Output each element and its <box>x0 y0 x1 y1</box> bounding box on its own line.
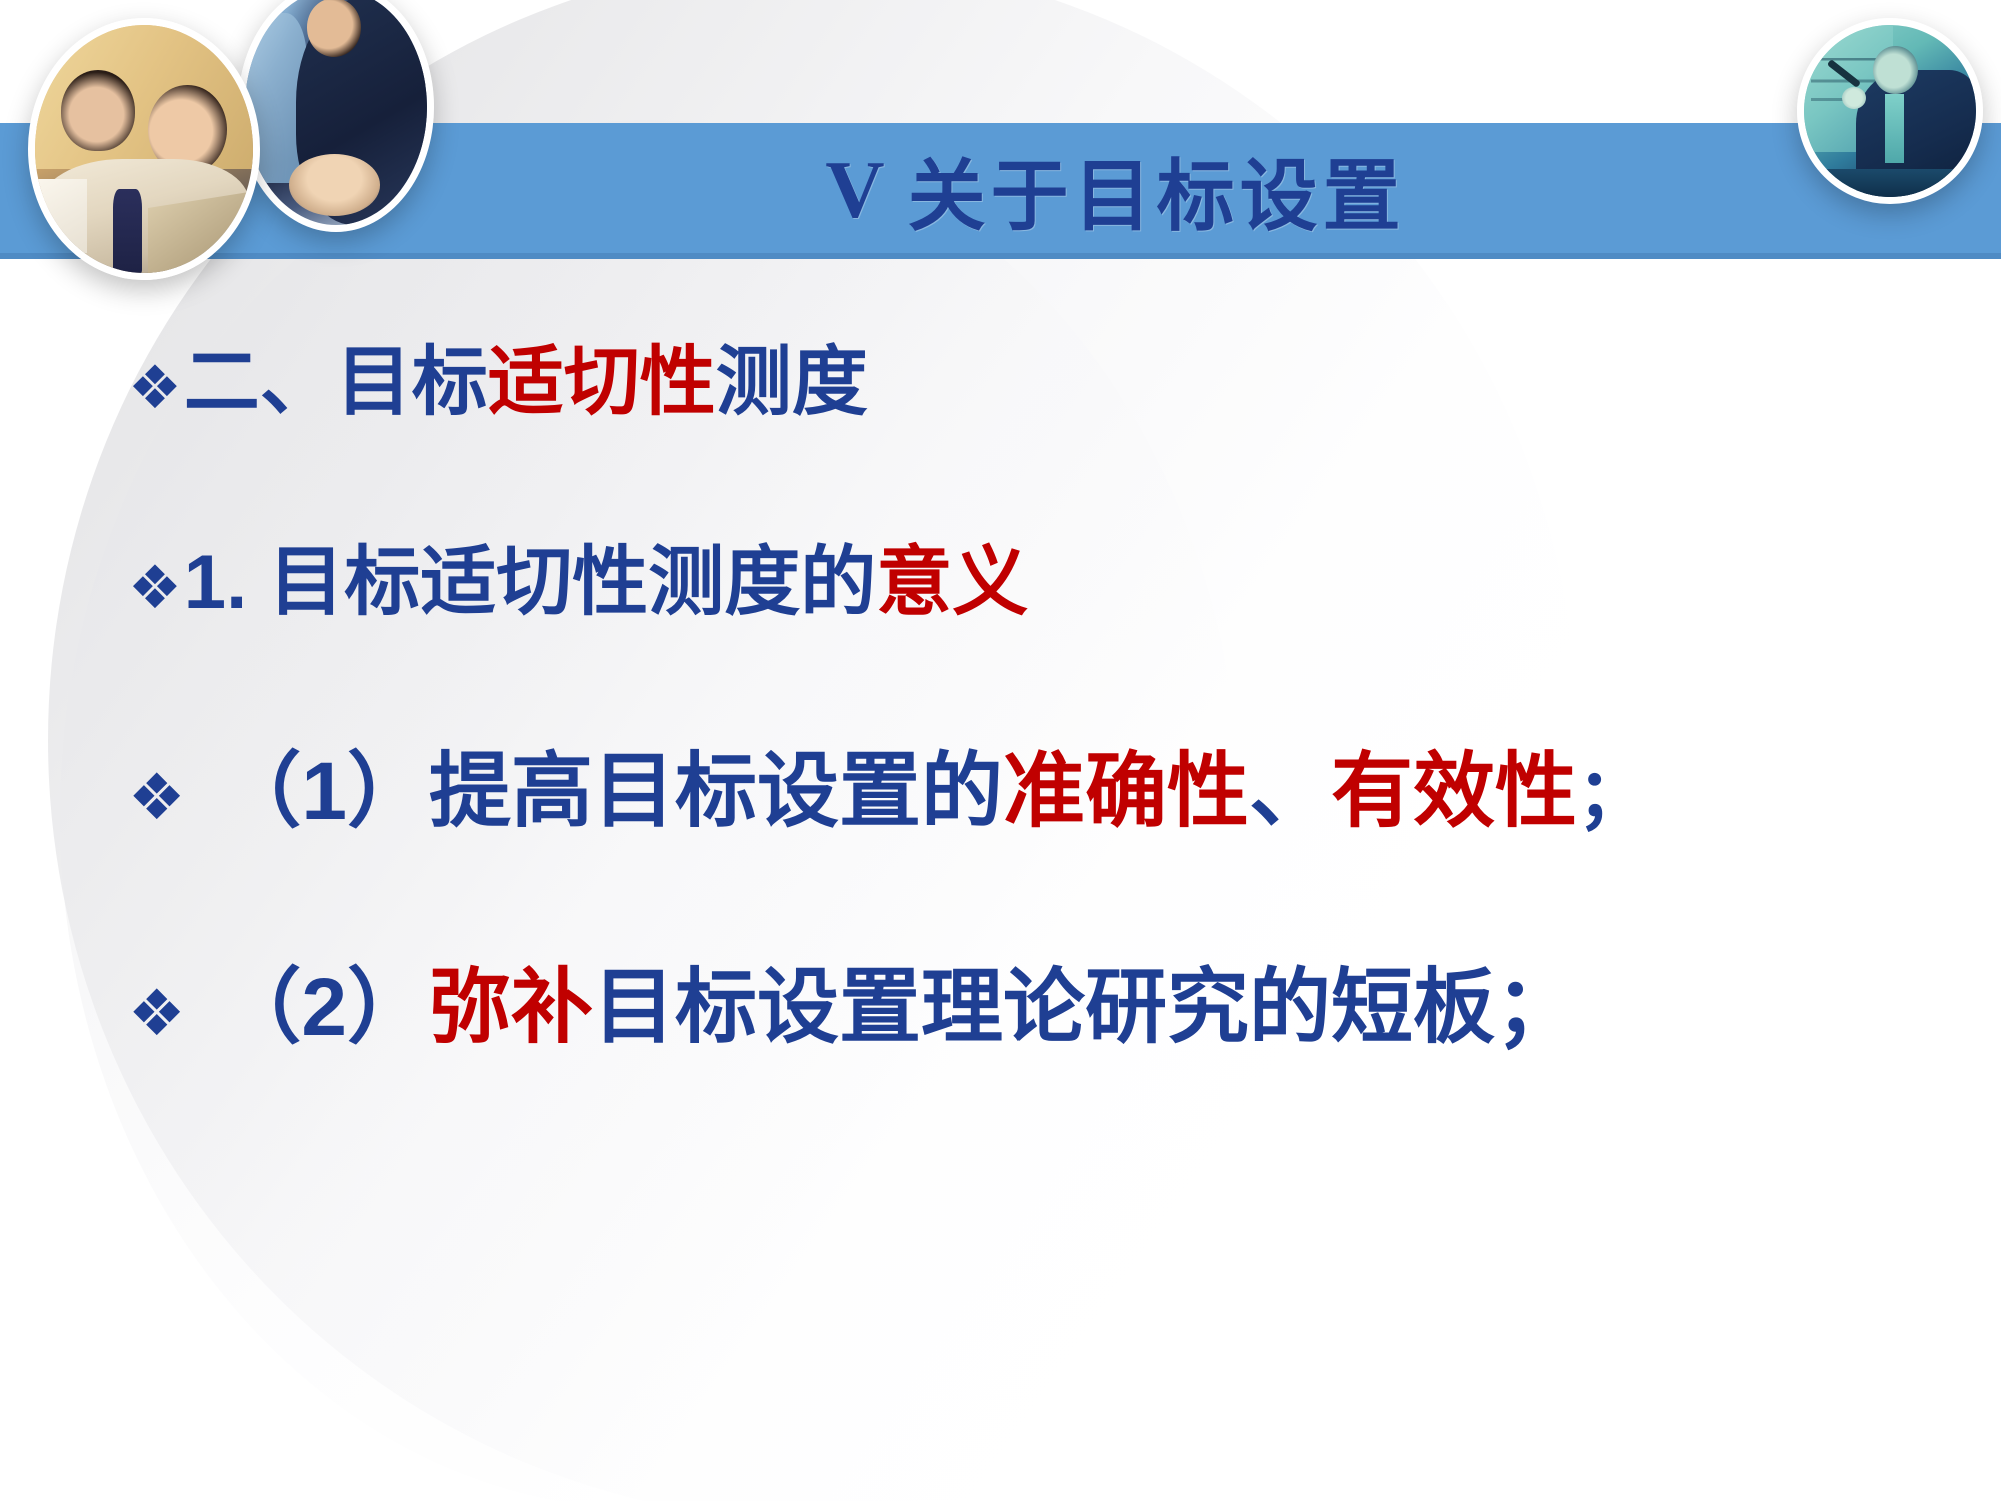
bullet-segment: 1. 目标适切性测度的 <box>184 540 877 625</box>
bullet-segment-emphasis: 适切性 <box>488 340 716 425</box>
slide-body: ❖ 二、目标适切性测度 ❖ 1. 目标适切性测度的意义 ❖ （1）提高目标设置的… <box>0 258 2001 1501</box>
team-at-laptop-photo <box>28 18 260 280</box>
bullet-segment-emphasis: 准确性 <box>1003 746 1249 837</box>
slide-canvas: V 关于目标设置 ❖ 二、目标适切性测度 <box>0 0 2001 1501</box>
bullet-text: （1）提高目标设置的准确性、有效性； <box>219 724 1647 843</box>
handshake-photo-hands <box>289 154 380 215</box>
bullet-segment: ； <box>1577 755 1648 834</box>
diamond-bullet-icon: ❖ <box>128 358 182 418</box>
executive-board-photo <box>1797 18 1983 204</box>
bullet-row: ❖ （1）提高目标设置的准确性、有效性； <box>0 724 2001 843</box>
bullet-segment-emphasis: 意义 <box>876 540 1028 625</box>
bullet-row: ❖ （2）弥补目标设置理论研究的短板； <box>0 940 2001 1059</box>
diamond-bullet-icon: ❖ <box>128 766 185 830</box>
bullet-segment: （1）提高目标设置的 <box>219 746 1003 837</box>
title-text: 关于目标设置 <box>908 134 1406 246</box>
bullet-text: （2）弥补目标设置理论研究的短板； <box>219 940 1577 1059</box>
diamond-bullet-icon: ❖ <box>128 558 182 618</box>
bullet-text: 二、目标适切性测度 <box>184 320 868 430</box>
bullet-segment: 、 <box>1249 746 1331 837</box>
title-numeral: V <box>825 143 889 237</box>
exec-photo-tie <box>1885 94 1904 163</box>
bullet-segment: 测度 <box>716 340 868 425</box>
team-photo-head-left <box>61 70 135 152</box>
bullet-text: 1. 目标适切性测度的意义 <box>184 520 1029 630</box>
bullet-segment-emphasis: 弥补 <box>429 962 593 1053</box>
exec-photo-desk <box>1804 169 1976 200</box>
exec-photo-head <box>1873 46 1918 94</box>
team-photo-paper <box>31 179 88 253</box>
bullet-segment-emphasis: 有效性 <box>1331 746 1577 837</box>
bullet-segment: （2） <box>219 962 429 1053</box>
handshake-photo <box>238 0 434 232</box>
bullet-segment: 目标设置理论研究的短板； <box>593 962 1577 1053</box>
bullet-row: ❖ 1. 目标适切性测度的意义 <box>0 520 2001 630</box>
bullet-segment: 二、目标 <box>184 340 488 425</box>
exec-photo-hand <box>1842 87 1866 109</box>
diamond-bullet-icon: ❖ <box>128 982 185 1046</box>
bullet-row: ❖ 二、目标适切性测度 <box>0 320 2001 430</box>
